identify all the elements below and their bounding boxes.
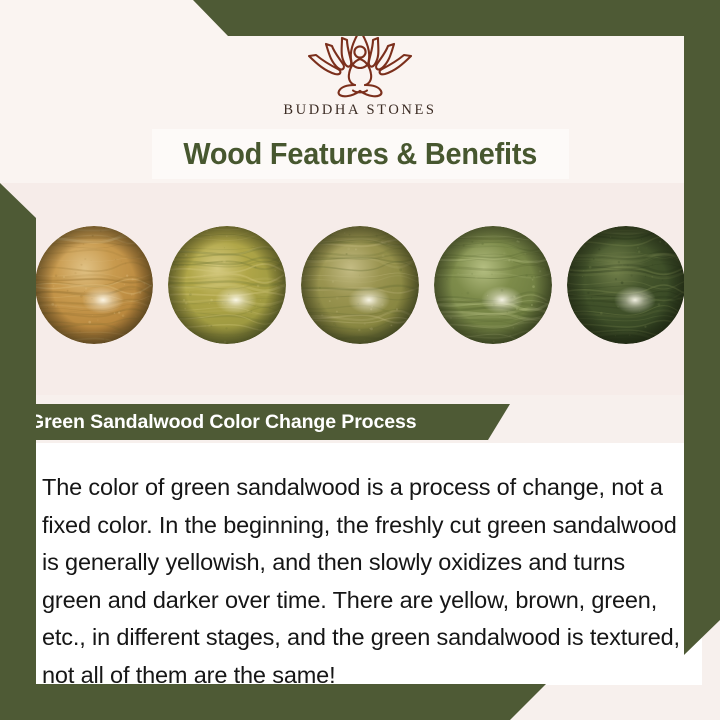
infographic-canvas: BUDDHA STONES Wood Features & Benefits G… bbox=[0, 0, 720, 720]
bead-stage-2-yellow-green bbox=[168, 226, 286, 344]
section-banner-title: Green Sandalwood Color Change Process bbox=[29, 411, 416, 434]
frame-right-bar bbox=[684, 0, 720, 720]
body-paragraph: The color of green sandalwood is a proce… bbox=[42, 469, 680, 694]
bead-stage-3-olive bbox=[301, 226, 419, 344]
bead-showcase-section bbox=[0, 183, 720, 395]
page-title-band: Wood Features & Benefits bbox=[152, 129, 569, 179]
bead-stage-1-yellow-tan bbox=[35, 226, 153, 344]
bead-stage-4-green bbox=[434, 226, 552, 344]
body-text-panel: The color of green sandalwood is a proce… bbox=[18, 443, 702, 685]
brand-name: BUDDHA STONES bbox=[283, 102, 436, 119]
section-banner: Green Sandalwood Color Change Process bbox=[18, 404, 510, 440]
brand-logo: BUDDHA STONES bbox=[0, 22, 720, 119]
bead-row bbox=[0, 226, 720, 344]
page-title: Wood Features & Benefits bbox=[184, 136, 538, 172]
bead-stage-5-dark-green bbox=[567, 226, 685, 344]
